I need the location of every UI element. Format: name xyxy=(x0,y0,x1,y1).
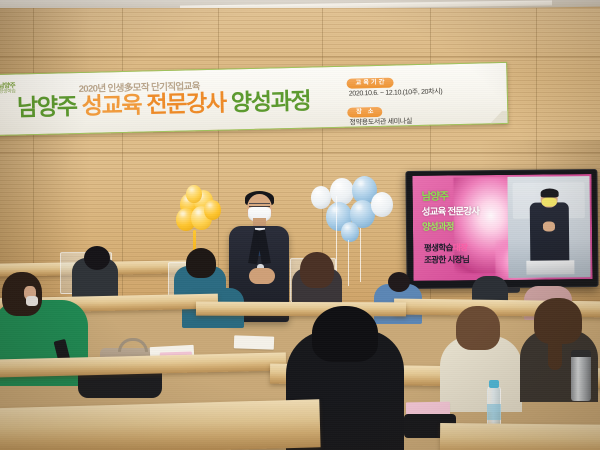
balloon-white xyxy=(330,178,354,205)
slide-speaker-title: 평생학습대장 xyxy=(424,242,467,254)
pip-speaker-hands xyxy=(543,222,555,231)
attendee-brown-hair-head xyxy=(300,252,334,288)
pip-podium xyxy=(526,260,574,275)
slide-speaker-title-accent: 대장 xyxy=(453,243,468,253)
attendee-green-jacket-head xyxy=(2,272,42,316)
banner-title-part-2: 성교육 xyxy=(81,92,141,119)
slide-title-line-3: 양성과정 xyxy=(422,219,454,233)
slide-speaker-title-text: 평생학습 xyxy=(424,243,453,253)
slide-title-line-2: 성교육 전문강사 xyxy=(422,204,480,219)
balloon-white xyxy=(371,192,393,217)
balloon-white xyxy=(311,186,331,209)
attendee-blue-shirt-head xyxy=(388,272,410,292)
wall-seam xyxy=(218,8,219,308)
desk-mid-center xyxy=(196,302,406,317)
attendee-teal-top-head xyxy=(186,248,216,278)
water-bottle-label xyxy=(487,404,501,420)
wall-band xyxy=(0,56,600,58)
pip-speaker-mask xyxy=(542,198,557,207)
photo-scene: 남양주 평생학습 2020년 인생多모작 단기직업교육 남양주 성교육 전문강사… xyxy=(0,0,600,450)
banner-title: 남양주 성교육 전문강사 양성과정 xyxy=(17,90,311,120)
balloon-yellow xyxy=(186,185,202,203)
banner-info-label-place: 장 소 xyxy=(347,107,382,118)
thermos-lid xyxy=(571,350,591,357)
banner-title-part-3: 전문강사 xyxy=(146,90,226,118)
speaker-lapel-right xyxy=(256,229,271,264)
pip-speaker-hair xyxy=(540,189,558,198)
attendee-back-row-dark-head xyxy=(84,246,110,270)
attendee-ponytail-tail xyxy=(548,330,562,370)
banner-title-part-4: 양성과정 xyxy=(231,88,311,116)
speaker-hands xyxy=(249,268,275,284)
banner-title-part-1: 남양주 xyxy=(17,93,77,120)
paper-sheet xyxy=(234,335,274,349)
slide-speaker-name: 조광한 시장님 xyxy=(424,253,469,265)
tv-live-video-panel xyxy=(507,176,590,278)
handbag-strap xyxy=(118,338,148,352)
attendee-green-jacket-mask xyxy=(26,296,38,306)
desk-foreground xyxy=(0,399,321,450)
banner-info-block: 교육기간 2020.10.6. ~ 12.10.(10주, 20차시) 장 소 … xyxy=(346,69,497,130)
event-banner: 남양주 평생학습 2020년 인생多모작 단기직업교육 남양주 성교육 전문강사… xyxy=(0,62,509,136)
slide-title-line-1: 남양주 xyxy=(422,188,449,203)
water-bottle-cap xyxy=(489,380,499,388)
tv-bezel: 남양주 성교육 전문강사 양성과정 평생학습대장 조광한 시장님 xyxy=(412,174,592,281)
banner-corner-curl xyxy=(487,111,508,126)
balloon-blue xyxy=(341,222,359,242)
banner-info-value-period: 2020.10.6. ~ 12.10.(10주, 20차시) xyxy=(349,88,497,99)
balloon-string xyxy=(360,228,361,282)
balloon-string xyxy=(336,196,337,276)
tv-screen: 남양주 성교육 전문강사 양성과정 평생학습대장 조광한 시장님 xyxy=(412,174,592,281)
presentation-tv[interactable]: 남양주 성교육 전문강사 양성과정 평생학습대장 조광한 시장님 xyxy=(405,169,598,289)
balloon-yellow xyxy=(204,200,221,220)
balloon-string xyxy=(348,240,349,286)
banner-info-label-period: 교육기간 xyxy=(346,78,393,89)
desk-foreground-right xyxy=(440,423,600,450)
attendee-black-coat-head xyxy=(312,306,378,362)
thermos-tumbler xyxy=(571,353,591,401)
attendee-cream-top-head xyxy=(456,306,500,350)
